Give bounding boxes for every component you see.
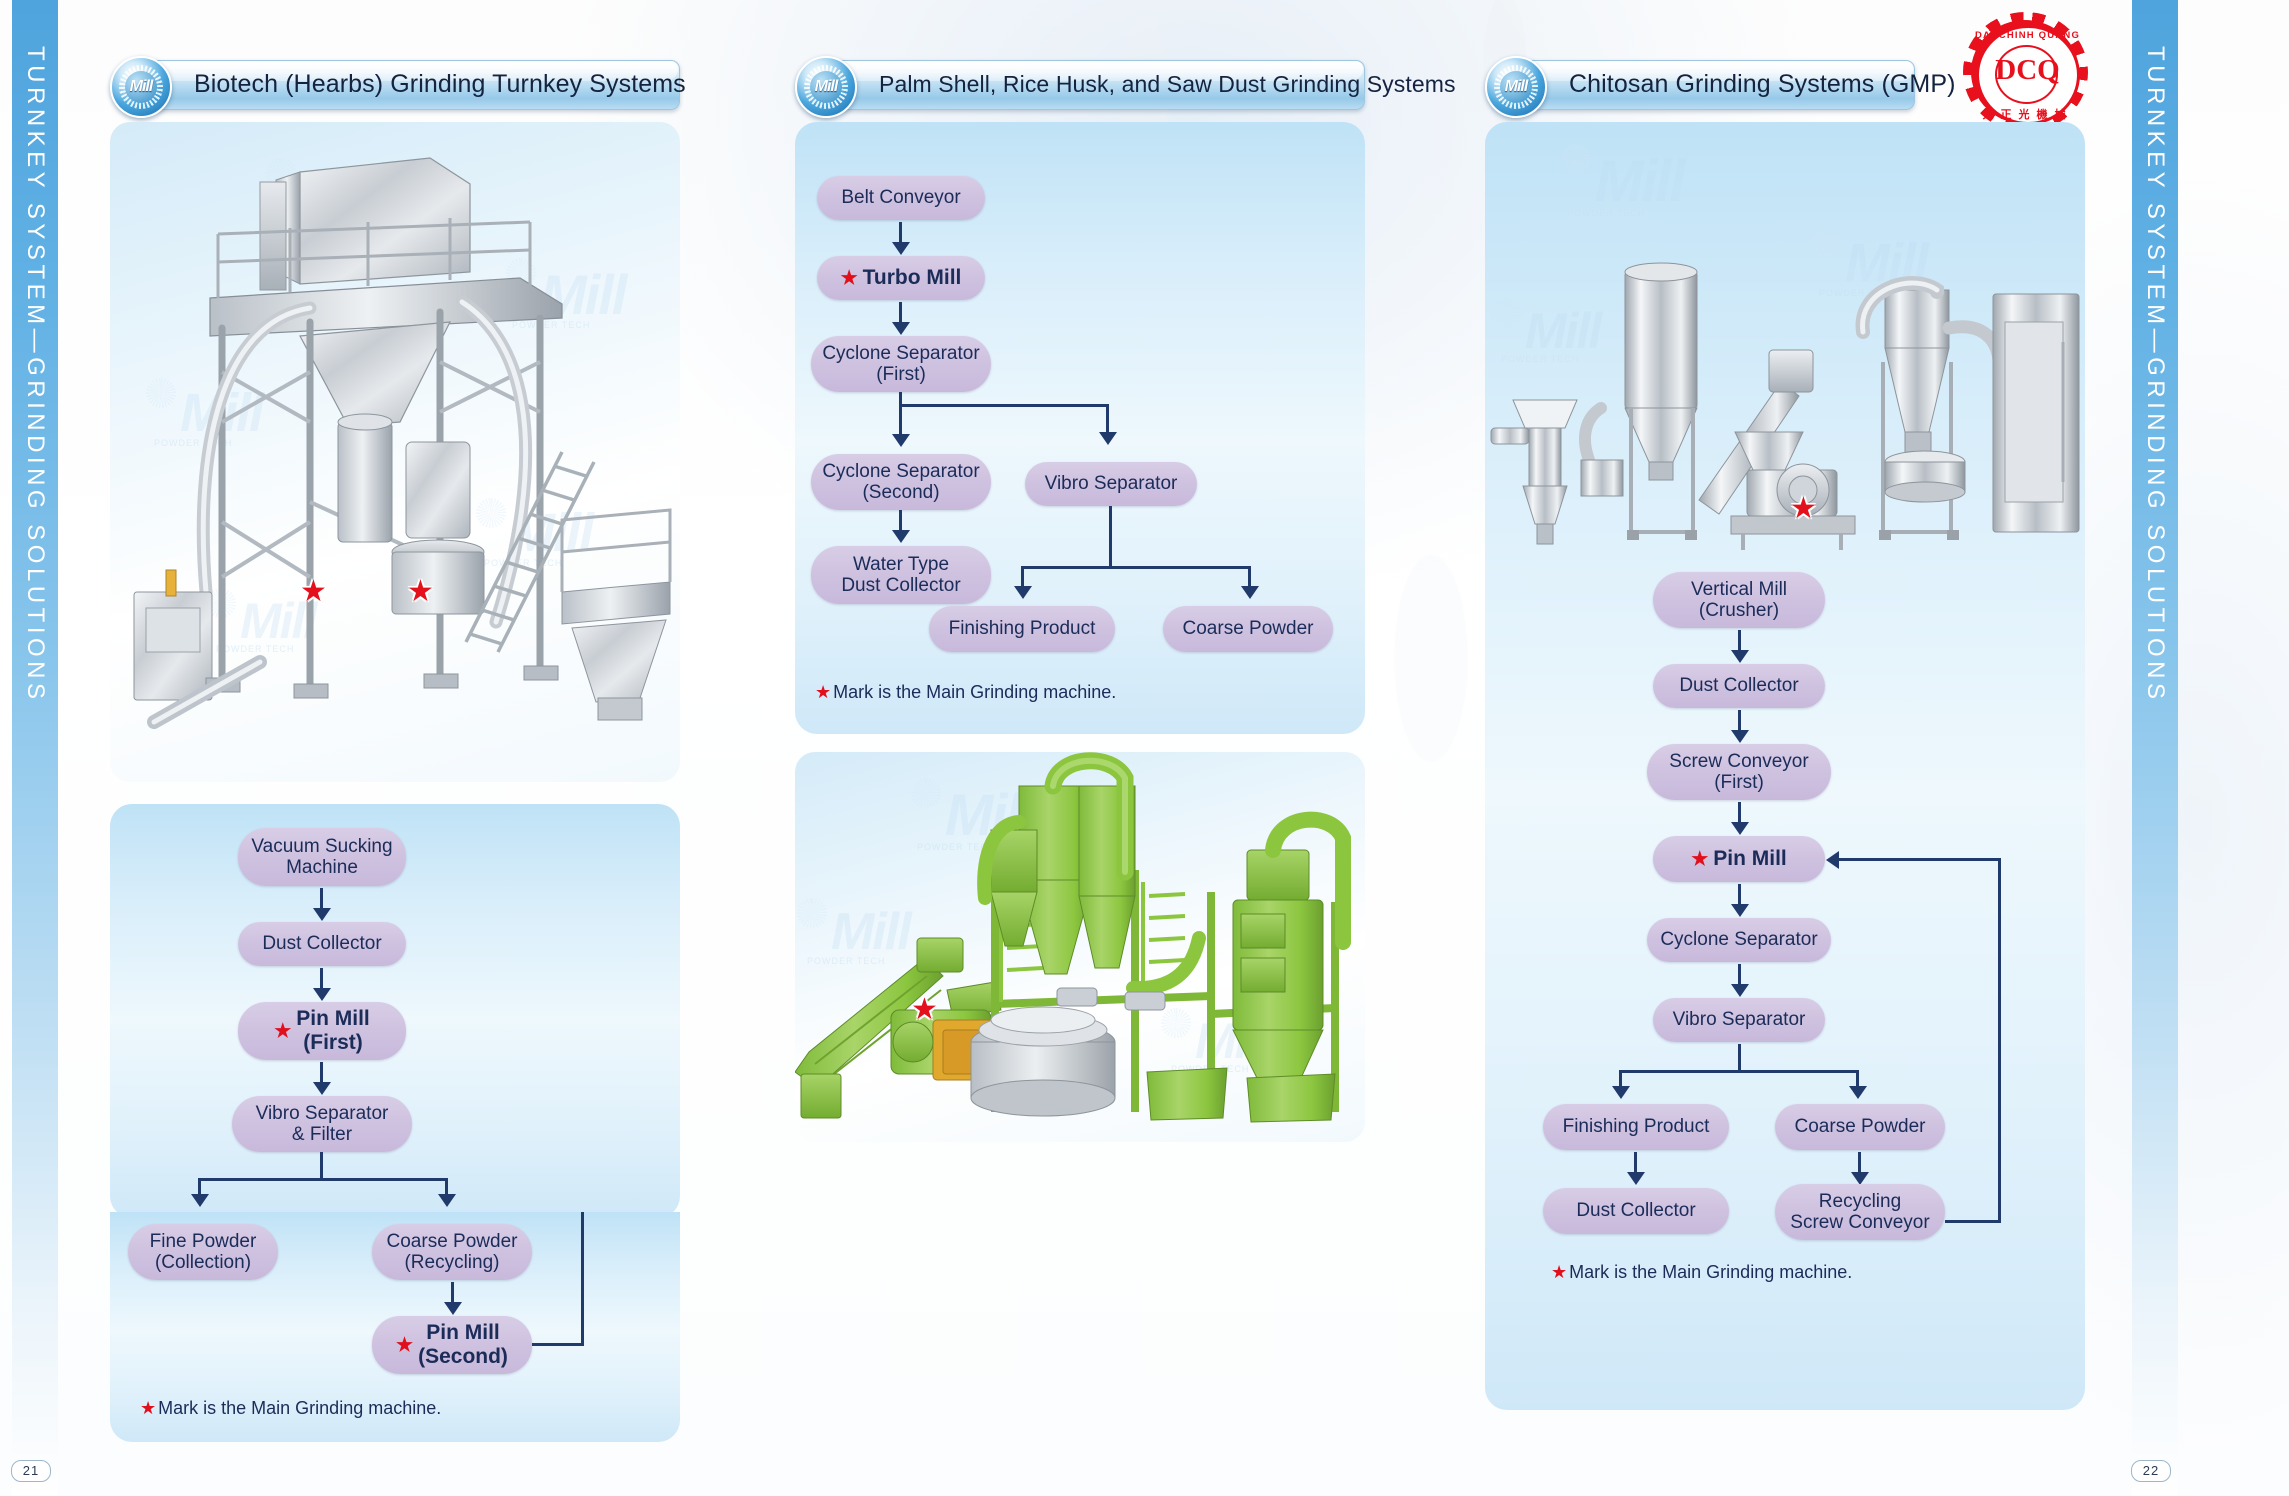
recycle-arrow-v [581, 1212, 584, 1346]
arrow-shaft [320, 1152, 323, 1180]
flow-node-label: Belt Conveyor [841, 187, 960, 208]
mill-logo-icon: Mill [795, 56, 857, 118]
flow-node-turbo-mill[interactable]: ★ Turbo Mill [817, 256, 985, 300]
flow-node-pin-mill-second[interactable]: ★ Pin Mill (Second) [372, 1316, 532, 1374]
arrow-head-down [1241, 586, 1259, 599]
flow-node-coarse-powder[interactable]: Coarse Powder [1163, 606, 1333, 652]
flow-node-coarse-powder[interactable]: Coarse Powder [1775, 1104, 1945, 1150]
star-icon: ★ [815, 682, 831, 702]
arrow-shaft [1858, 1152, 1861, 1174]
arrow-shaft [899, 302, 902, 324]
arrow-head-down [313, 908, 331, 921]
arrow-shaft [1738, 710, 1741, 732]
arrow-shaft [899, 222, 902, 244]
biotech-machine-illustration [110, 122, 680, 782]
arrow-shaft [1738, 1044, 1741, 1072]
flow-node-label: Cyclone Separator (Second) [822, 461, 979, 504]
mill-logo-icon: Mill [110, 56, 172, 118]
arrow-shaft [1738, 630, 1741, 652]
flow-node-cyclone-separator-second[interactable]: Cyclone Separator (Second) [811, 454, 991, 510]
flow-node-finishing-product[interactable]: Finishing Product [1543, 1104, 1729, 1150]
section-title-chitosan: Chitosan Grinding Systems (GMP) [1569, 60, 1956, 108]
arrow-head-down [892, 242, 910, 255]
arrow-shaft [1738, 802, 1741, 824]
arrow-head-down [892, 530, 910, 543]
flow-node-vibro-separator[interactable]: Vibro Separator [1025, 462, 1197, 506]
mill-wordmark: Mill [112, 78, 170, 96]
flow-node-cyclone-separator-first[interactable]: Cyclone Separator (First) [811, 336, 991, 392]
mill-logo-icon: Mill [1485, 56, 1547, 118]
flow-node-label: Coarse Powder [1183, 618, 1314, 639]
arrow-head-down [1731, 822, 1749, 835]
arrow-head-down [191, 1194, 209, 1207]
panel-flow-biotech-lower: Fine Powder (Collection) Coarse Powder (… [110, 1212, 680, 1442]
flow-node-label: Coarse Powder (Recycling) [387, 1231, 518, 1274]
column-biotech: Biotech (Hearbs) Grinding Turnkey System… [110, 0, 680, 1442]
recycle-arrow-v [1998, 858, 2001, 1222]
flow-node-label: Screw Conveyor (First) [1669, 751, 1808, 794]
flow-node-pin-mill[interactable]: ★ Pin Mill [1653, 836, 1825, 882]
arrow-head-down [1731, 904, 1749, 917]
flow-node-water-type-dust-collector[interactable]: Water Type Dust Collector [811, 546, 991, 604]
flow-node-label: Vibro Separator [1045, 473, 1178, 494]
flow-node-pin-mill-first[interactable]: ★ Pin Mill (First) [238, 1002, 406, 1060]
arrow-head-left [1826, 851, 1839, 869]
star-icon: ★ [274, 1022, 291, 1041]
arrow-shaft [1021, 566, 1024, 588]
arrow-branch [1021, 566, 1251, 569]
panel-flow-palmshell: Belt Conveyor ★ Turbo Mill Cyclone Separ… [795, 122, 1365, 734]
star-icon: ★ [1691, 850, 1708, 869]
flow-node-label: Coarse Powder [1795, 1116, 1926, 1137]
arrow-shaft [1738, 964, 1741, 986]
arrow-shaft [320, 888, 323, 910]
arrow-head-down [1731, 984, 1749, 997]
chitosan-machine-illustration [1485, 232, 2085, 562]
arrow-shaft [1738, 884, 1741, 906]
flow-node-label: Vertical Mill (Crusher) [1691, 579, 1787, 622]
arrow-shaft [320, 968, 323, 990]
arrow-shaft [899, 392, 902, 436]
flow-node-vacuum-sucking-machine[interactable]: Vacuum Sucking Machine [238, 828, 406, 886]
section-title-palmshell: Palm Shell, Rice Husk, and Saw Dust Grin… [879, 60, 1456, 108]
flow-node-vertical-mill-crusher[interactable]: Vertical Mill (Crusher) [1653, 572, 1825, 628]
left-banner-text: TURNKEY SYSTEM—GRINDING SOLUTIONS [21, 46, 49, 703]
page-number-left: 21 [11, 1460, 51, 1482]
star-marker-main-grinder: ★ [1790, 494, 1817, 524]
legend-note-chitosan: ★Mark is the Main Grinding machine. [1551, 1262, 1852, 1283]
arrow-head-down [438, 1194, 456, 1207]
flow-node-screw-conveyor-first[interactable]: Screw Conveyor (First) [1647, 744, 1831, 800]
flowchart-palmshell: Belt Conveyor ★ Turbo Mill Cyclone Separ… [795, 122, 1365, 734]
flow-node-label: Dust Collector [1576, 1200, 1695, 1221]
legend-note-text: Mark is the Main Grinding machine. [833, 682, 1116, 702]
flow-node-label: Pin Mill (Second) [418, 1321, 508, 1368]
flow-node-label: Finishing Product [1563, 1116, 1710, 1137]
arrow-shaft [451, 1282, 454, 1304]
arrow-head-down [1849, 1086, 1867, 1099]
arrow-shaft [1109, 506, 1112, 568]
flow-node-label: Vibro Separator [1673, 1009, 1806, 1030]
flow-node-label: Dust Collector [1679, 675, 1798, 696]
legend-note-text: Mark is the Main Grinding machine. [158, 1398, 441, 1418]
flow-node-label: Pin Mill (First) [296, 1007, 370, 1054]
section-title-biotech: Biotech (Hearbs) Grinding Turnkey System… [194, 60, 686, 108]
mill-wordmark: Mill [797, 78, 855, 96]
flow-node-label: Vacuum Sucking Machine [251, 836, 392, 879]
flow-node-dust-collector-final[interactable]: Dust Collector [1543, 1188, 1729, 1234]
flowchart-biotech: Vacuum Sucking Machine Dust Collector ★ … [110, 804, 680, 1218]
arrow-head-down [313, 1082, 331, 1095]
legend-note-biotech: ★Mark is the Main Grinding machine. [140, 1398, 441, 1419]
section-header-chitosan: Chitosan Grinding Systems (GMP) Mill [1485, 60, 2085, 108]
star-marker-main-grinder: ★ [911, 995, 938, 1025]
arrow-head-down [1014, 586, 1032, 599]
flowchart-chitosan: Vertical Mill (Crusher) Dust Collector S… [1485, 572, 2085, 1410]
flow-node-label: Turbo Mill [863, 266, 962, 290]
recycle-arrow-h-top [1837, 858, 2001, 861]
arrow-head-down [1099, 432, 1117, 445]
star-icon: ★ [140, 1398, 156, 1418]
panel-chitosan: MillPOWDER TECH MillPOWDER TECH MillPOWD… [1485, 122, 2085, 1410]
star-marker-main-grinder-1: ★ [300, 577, 327, 607]
arrow-head-down [1612, 1086, 1630, 1099]
arrow-head-down [892, 322, 910, 335]
right-banner-text: TURNKEY SYSTEM—GRINDING SOLUTIONS [2141, 46, 2169, 703]
flow-node-fine-powder[interactable]: Fine Powder (Collection) [128, 1224, 278, 1280]
recycle-arrow-h-bottom [532, 1343, 584, 1346]
flow-node-vibro-separator[interactable]: Vibro Separator [1653, 998, 1825, 1042]
arrow-shaft [320, 1062, 323, 1084]
arrow-head-down [313, 988, 331, 1001]
right-side-banner: TURNKEY SYSTEM—GRINDING SOLUTIONS [2132, 0, 2178, 1496]
panel-flow-biotech: Vacuum Sucking Machine Dust Collector ★ … [110, 804, 680, 1218]
page-number-right: 22 [2131, 1460, 2171, 1482]
column-palmshell: Palm Shell, Rice Husk, and Saw Dust Grin… [795, 0, 1365, 1142]
arrow-head-down [1731, 730, 1749, 743]
arrow-head-down [1731, 650, 1749, 663]
star-icon: ★ [1551, 1262, 1567, 1282]
column-chitosan: Chitosan Grinding Systems (GMP) Mill Mil… [1485, 0, 2085, 1410]
star-icon: ★ [396, 1336, 413, 1355]
arrow-branch [1619, 1070, 1859, 1073]
recycle-arrow-h-bottom [1945, 1220, 2001, 1223]
flow-node-cyclone-separator[interactable]: Cyclone Separator [1647, 918, 1831, 962]
legend-note-palmshell: ★Mark is the Main Grinding machine. [815, 682, 1116, 703]
flow-node-label: Pin Mill [1713, 847, 1787, 871]
section-header-biotech: Biotech (Hearbs) Grinding Turnkey System… [110, 60, 680, 108]
photo-biotech-plant: MillPOWDER TECH MillPOWDER TECH MillPOWD… [110, 122, 680, 782]
section-header-palmshell: Palm Shell, Rice Husk, and Saw Dust Grin… [795, 60, 1365, 108]
star-icon: ★ [841, 269, 858, 288]
flow-node-label: Water Type Dust Collector [841, 554, 960, 597]
arrow-shaft [899, 510, 902, 532]
flow-node-finishing-product[interactable]: Finishing Product [929, 606, 1115, 652]
flow-node-label: Dust Collector [262, 933, 381, 954]
flow-node-label: Recycling Screw Conveyor [1790, 1191, 1929, 1234]
flow-node-dust-collector[interactable]: Dust Collector [1653, 664, 1825, 708]
arrow-head-down [892, 434, 910, 447]
flow-node-label: Cyclone Separator (First) [822, 343, 979, 386]
flow-node-coarse-powder[interactable]: Coarse Powder (Recycling) [372, 1224, 532, 1280]
flow-node-dust-collector[interactable]: Dust Collector [238, 922, 406, 966]
arrow-shaft [1634, 1152, 1637, 1174]
flow-node-label: Cyclone Separator [1660, 929, 1817, 950]
flow-node-belt-conveyor[interactable]: Belt Conveyor [817, 176, 985, 220]
arrow-head-down [1627, 1172, 1645, 1185]
legend-note-text: Mark is the Main Grinding machine. [1569, 1262, 1852, 1282]
flow-node-label: Vibro Separator & Filter [256, 1103, 389, 1146]
mill-wordmark: Mill [1487, 78, 1545, 96]
star-marker-main-grinder-2: ★ [407, 577, 434, 607]
flowchart-biotech-lower: Fine Powder (Collection) Coarse Powder (… [110, 1212, 680, 1442]
flow-node-recycling-screw-conveyor[interactable]: Recycling Screw Conveyor [1775, 1184, 1945, 1240]
flow-node-label: Finishing Product [949, 618, 1096, 639]
arrow-branch [899, 404, 1109, 407]
photo-palmshell-green-line: MillPOWDER TECH MillPOWDER TECH MillPOWD… [795, 752, 1365, 1142]
arrow-branch [198, 1178, 448, 1181]
arrow-shaft [1248, 566, 1251, 588]
flow-node-vibro-separator-filter[interactable]: Vibro Separator & Filter [232, 1096, 412, 1152]
arrow-head-down [444, 1302, 462, 1315]
left-side-banner: TURNKEY SYSTEM—GRINDING SOLUTIONS [12, 0, 58, 1496]
palmshell-machine-illustration [795, 752, 1365, 1142]
arrow-shaft [1106, 404, 1109, 434]
flow-node-label: Fine Powder (Collection) [150, 1231, 257, 1274]
